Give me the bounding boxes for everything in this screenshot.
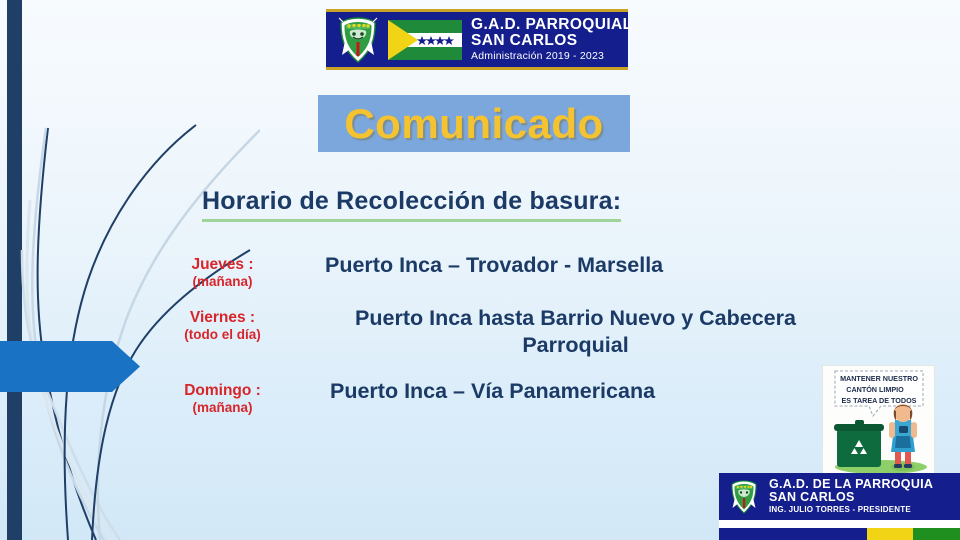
footer-logo: G.A.D. DE LA PARROQUIA SAN CARLOS ING. J… (719, 473, 960, 540)
header-line-3: Administración 2019 - 2023 (471, 51, 633, 62)
schedule-day-friday: Viernes : (todo el día) (150, 305, 295, 342)
collection-schedule: Jueves : (mañana) Puerto Inca – Trovador… (150, 252, 850, 431)
banner-title: Comunicado (344, 100, 603, 148)
footer-color-bars (719, 528, 960, 540)
footer-bar-blue (719, 528, 867, 540)
footer-logo-main: G.A.D. DE LA PARROQUIA SAN CARLOS ING. J… (719, 473, 960, 520)
page-subtitle: Horario de Recolección de basura: (202, 187, 621, 222)
day-label: Jueves : (150, 256, 295, 274)
footer-bar-yellow (867, 528, 913, 540)
footer-logo-text: G.A.D. DE LA PARROQUIA SAN CARLOS ING. J… (769, 478, 933, 515)
san-carlos-flag-icon (388, 20, 462, 60)
schedule-row: Jueves : (mañana) Puerto Inca – Trovador… (150, 252, 850, 289)
schedule-route-sunday: Puerto Inca – Vía Panamericana (295, 378, 850, 404)
route-line-2: Parroquial (301, 332, 850, 358)
schedule-day-thursday: Jueves : (mañana) (150, 252, 295, 289)
header-line-2: SAN CARLOS (471, 33, 633, 49)
title-banner: Comunicado (318, 95, 630, 152)
poster-line-2: CANTÓN LIMPIO (846, 385, 904, 394)
day-label: Viernes : (150, 309, 295, 327)
poster-line-3: ES TAREA DE TODOS (842, 396, 917, 405)
day-label: Domingo : (150, 382, 295, 400)
header-logo: G.A.D. PARROQUIAL SAN CARLOS Administrac… (326, 9, 628, 70)
route-line-1: Puerto Inca hasta Barrio Nuevo y Cabecer… (301, 305, 850, 331)
day-time-label: (mañana) (150, 274, 295, 290)
schedule-row: Domingo : (mañana) Puerto Inca – Vía Pan… (150, 378, 850, 415)
schedule-route-friday: Puerto Inca hasta Barrio Nuevo y Cabecer… (295, 305, 850, 357)
footer-white-stripe (719, 520, 960, 528)
schedule-day-sunday: Domingo : (mañana) (150, 378, 295, 415)
san-carlos-coat-of-arms-icon (727, 479, 761, 515)
footer-bar-green (913, 528, 960, 540)
day-time-label: (todo el día) (150, 327, 295, 343)
header-line-1: G.A.D. PARROQUIAL (471, 17, 633, 33)
san-carlos-coat-of-arms-icon (334, 15, 382, 65)
poster-line-1: MANTENER NUESTRO (840, 374, 918, 383)
cleanliness-poster: MANTENER NUESTRO CANTÓN LIMPIO ES TAREA … (822, 365, 935, 477)
schedule-row: Viernes : (todo el día) Puerto Inca hast… (150, 305, 850, 357)
footer-line-2: SAN CARLOS (769, 491, 933, 504)
schedule-route-thursday: Puerto Inca – Trovador - Marsella (295, 252, 850, 278)
header-logo-text: G.A.D. PARROQUIAL SAN CARLOS Administrac… (471, 17, 633, 61)
slide-canvas: G.A.D. PARROQUIAL SAN CARLOS Administrac… (0, 0, 960, 540)
blue-arrow-shape (0, 341, 140, 392)
day-time-label: (mañana) (150, 400, 295, 416)
footer-line-3: ING. JULIO TORRES - PRESIDENTE (769, 506, 933, 514)
